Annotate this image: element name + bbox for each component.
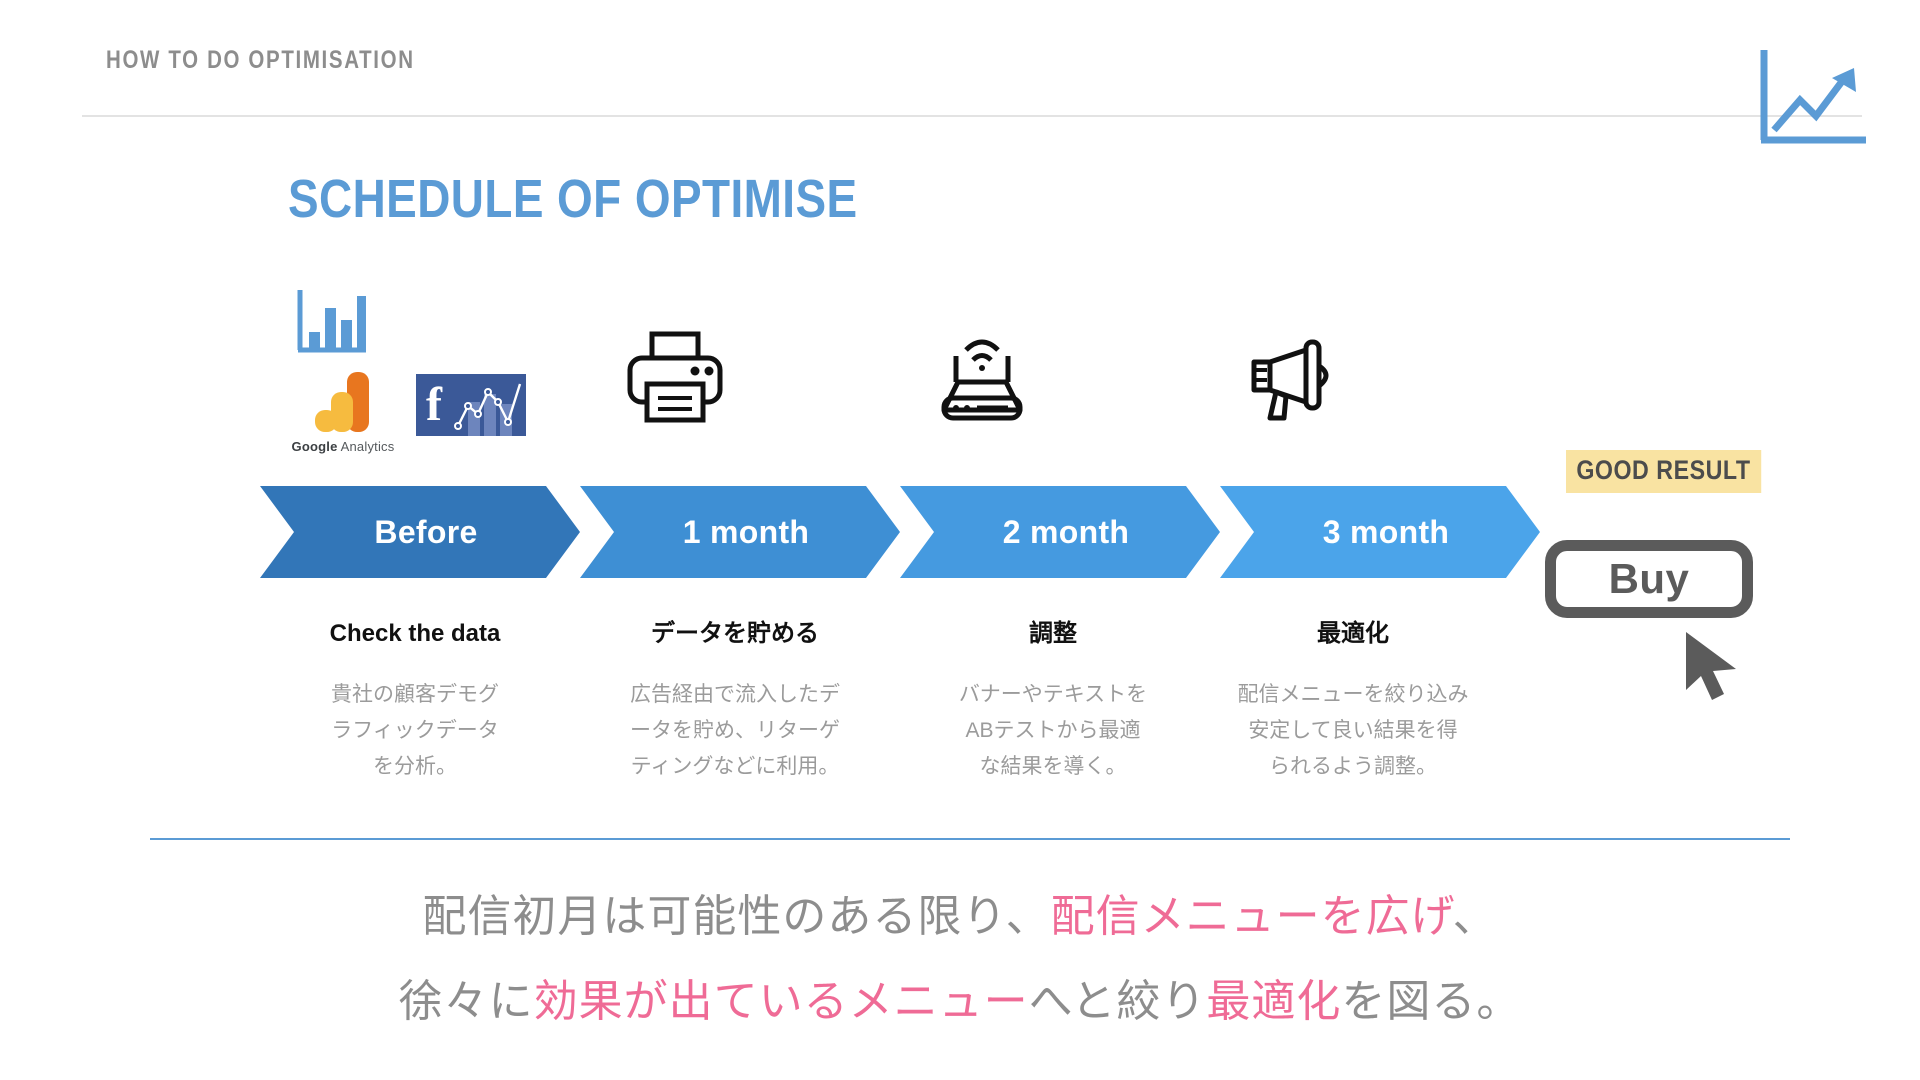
summary-segment: 徐々に xyxy=(399,977,534,1026)
caption-title: Check the data xyxy=(270,620,560,649)
header-divider xyxy=(82,115,1862,117)
timeline-step-label: 2 month xyxy=(1003,514,1130,551)
megaphone-icon xyxy=(1248,330,1448,500)
page-kicker: HOW TO DO OPTIMISATION xyxy=(106,46,415,75)
timeline-step-2-month[interactable]: 2 month xyxy=(900,486,1220,578)
caption-line: 貴社の顧客デモグ xyxy=(270,677,560,713)
google-analytics-label: Google Analytics xyxy=(278,439,408,454)
caption-line: ABテストから最適 xyxy=(908,713,1198,749)
timeline-chevrons: Before 1 month 2 month 3 month xyxy=(260,486,1540,578)
timeline-step-1-month[interactable]: 1 month xyxy=(580,486,900,578)
caption-line: ラフィックデータ xyxy=(270,713,560,749)
caption-line: ータを貯め、リターゲ xyxy=(590,713,880,749)
summary-segment-highlight: 配信メニューを広げ xyxy=(1051,892,1453,941)
caption-body: 広告経由で流入したデ ータを貯め、リターゲ ティングなどに利用。 xyxy=(590,677,880,785)
caption-line: バナーやテキストを xyxy=(908,677,1198,713)
caption-line: 広告経由で流入したデ xyxy=(590,677,880,713)
buy-button-label: Buy xyxy=(1609,555,1690,603)
caption-line: 安定して良い結果を得 xyxy=(1208,713,1498,749)
summary-segment: を図る。 xyxy=(1341,977,1521,1026)
caption-line: ティングなどに利用。 xyxy=(590,749,880,785)
buy-button[interactable]: Buy xyxy=(1545,540,1753,618)
wifi-router-icon xyxy=(940,330,1140,500)
summary-segment: 、 xyxy=(1453,892,1498,941)
mouse-pointer-icon xyxy=(1682,630,1744,702)
caption-column-4: 最適化 配信メニューを絞り込み 安定して良い結果を得 られるよう調整。 xyxy=(1208,620,1498,785)
good-result-badge: GOOD RESULT xyxy=(1566,450,1761,493)
caption-column-1: Check the data 貴社の顧客デモグ ラフィックデータ を分析。 xyxy=(270,620,560,785)
timeline-step-label: 3 month xyxy=(1323,514,1450,551)
timeline-step-label: 1 month xyxy=(683,514,810,551)
caption-title: 最適化 xyxy=(1208,620,1498,649)
caption-title: 調整 xyxy=(908,620,1198,649)
caption-body: バナーやテキストを ABテストから最適 な結果を導く。 xyxy=(908,677,1198,785)
timeline-step-before[interactable]: Before xyxy=(260,486,580,578)
caption-column-3: 調整 バナーやテキストを ABテストから最適 な結果を導く。 xyxy=(908,620,1198,785)
google-analytics-logo: Google Analytics xyxy=(278,370,408,454)
analytics-logos-group: Google Analytics f xyxy=(268,288,468,458)
summary-divider xyxy=(150,838,1790,840)
caption-line: な結果を導く。 xyxy=(908,749,1198,785)
facebook-analytics-logo: f xyxy=(416,374,526,436)
timeline-step-3-month[interactable]: 3 month xyxy=(1220,486,1540,578)
caption-line: 配信メニューを絞り込み xyxy=(1208,677,1498,713)
summary-segment-highlight: 最適化 xyxy=(1206,977,1341,1026)
caption-line: を分析。 xyxy=(270,749,560,785)
printer-icon xyxy=(625,330,825,500)
summary-line-1: 配信初月は可能性のある限り、配信メニューを広げ、 xyxy=(0,880,1920,944)
page-title: SCHEDULE OF OPTIMISE xyxy=(288,168,858,230)
bar-chart-icon xyxy=(296,288,368,356)
summary-segment: 配信初月は可能性のある限り、 xyxy=(422,892,1050,941)
caption-body: 配信メニューを絞り込み 安定して良い結果を得 られるよう調整。 xyxy=(1208,677,1498,785)
summary-segment: へと絞り xyxy=(1029,977,1207,1026)
line-chart-icon xyxy=(1758,50,1866,146)
summary-line-2: 徐々に効果が出ているメニューへと絞り最適化を図る。 xyxy=(0,965,1920,1029)
caption-title: データを貯める xyxy=(590,620,880,649)
summary-segment-highlight: 効果が出ているメニュー xyxy=(534,977,1029,1026)
caption-column-2: データを貯める 広告経由で流入したデ ータを貯め、リターゲ ティングなどに利用。 xyxy=(590,620,880,785)
timeline-step-label: Before xyxy=(374,514,477,551)
caption-line: られるよう調整。 xyxy=(1208,749,1498,785)
caption-body: 貴社の顧客デモグ ラフィックデータ を分析。 xyxy=(270,677,560,785)
google-analytics-mark xyxy=(313,370,373,434)
